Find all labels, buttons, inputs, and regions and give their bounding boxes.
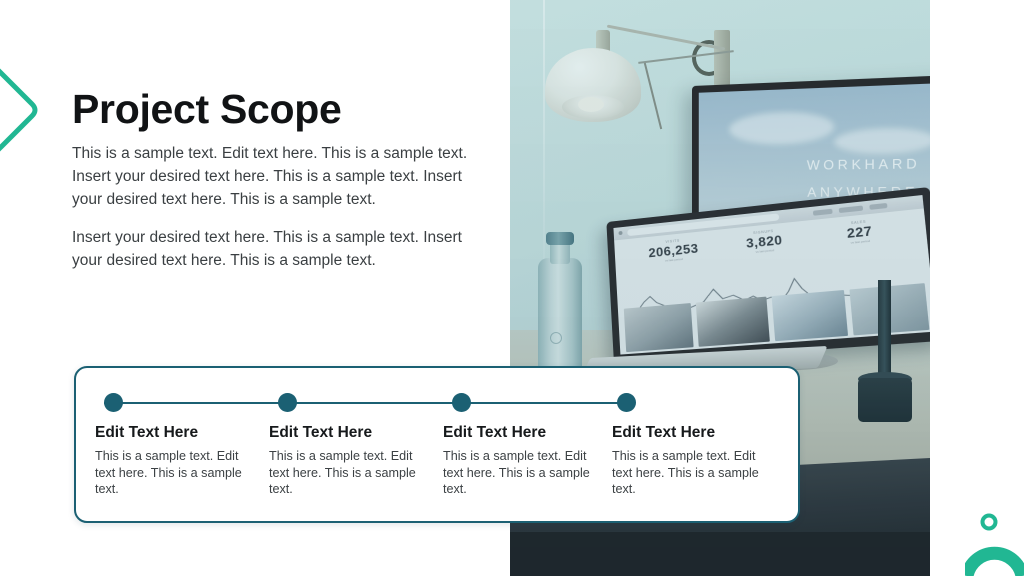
- page-title: Project Scope: [72, 86, 342, 133]
- chevron-right-icon: [0, 56, 48, 164]
- timeline-dot-3[interactable]: [452, 393, 471, 412]
- timeline-step-title: Edit Text Here: [443, 424, 603, 442]
- timeline-dot-2[interactable]: [278, 393, 297, 412]
- timeline-step-text: This is a sample text. Edit text here. T…: [443, 448, 603, 498]
- timeline-step-2[interactable]: Edit Text Here This is a sample text. Ed…: [269, 424, 429, 498]
- timeline-step-4[interactable]: Edit Text Here This is a sample text. Ed…: [612, 424, 772, 498]
- decorative-ring-icon: [979, 512, 999, 532]
- timeline-step-title: Edit Text Here: [95, 424, 255, 442]
- timeline-step-title: Edit Text Here: [612, 424, 772, 442]
- timeline-dot-1[interactable]: [104, 393, 123, 412]
- body-paragraph-2: Insert your desired text here. This is a…: [72, 226, 472, 272]
- body-text-column: This is a sample text. Edit text here. T…: [72, 142, 472, 272]
- timeline-step-3[interactable]: Edit Text Here This is a sample text. Ed…: [443, 424, 603, 498]
- slide-canvas: WORKHARD ANYWHERE MADE BY UGMONK, PORTLA…: [0, 0, 1024, 576]
- timeline-step-text: This is a sample text. Edit text here. T…: [612, 448, 772, 498]
- decorative-arc-icon: [965, 538, 1024, 576]
- timeline-connector-line: [104, 402, 626, 404]
- timeline-dot-4[interactable]: [617, 393, 636, 412]
- timeline-step-title: Edit Text Here: [269, 424, 429, 442]
- timeline-step-1[interactable]: Edit Text Here This is a sample text. Ed…: [95, 424, 255, 498]
- timeline-step-text: This is a sample text. Edit text here. T…: [95, 448, 255, 498]
- body-paragraph-1: This is a sample text. Edit text here. T…: [72, 142, 472, 211]
- timeline-step-text: This is a sample text. Edit text here. T…: [269, 448, 429, 498]
